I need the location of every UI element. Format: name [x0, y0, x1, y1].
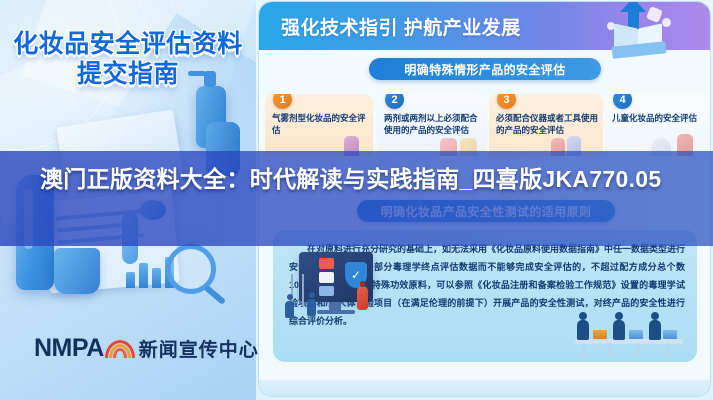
fire-extinguisher-illustration	[357, 286, 368, 310]
rainbow-arc-icon	[105, 340, 135, 358]
card-number-badge: 1	[273, 94, 292, 109]
left-poster-title: 化妆品安全评估资料 提交指南	[0, 30, 256, 89]
card-label: 必须配合仪器或者工具使用的产品的安全评估	[496, 112, 598, 136]
ladder-illustration	[291, 274, 305, 306]
page-title: 澳门正版资料大全：时代解读与实践指南_四喜版JKA770.05	[40, 163, 680, 196]
card-footer-edge	[259, 380, 710, 396]
numbered-card-list: 1 气雾剂型化妆品的安全评估 2 两剂或两剂以上必须配合使用的产品的安全评估 3…	[263, 88, 710, 156]
card-number-badge: 4	[613, 94, 632, 109]
screenshot-root: 化妆品安全评估资料 提交指南 强化技术指引 护航产业发展 明确特殊情形产品的安全…	[0, 0, 713, 400]
cosmetic-jar-illustration	[54, 248, 100, 294]
card-label: 两剂或两剂以上必须配合使用的产品的安全评估	[384, 112, 482, 136]
security-monitor-illustration: ✓	[285, 252, 377, 318]
meeting-illustration	[571, 294, 687, 356]
numbered-card: 1 气雾剂型化妆品的安全评估	[265, 94, 373, 156]
numbered-card: 4 儿童化妆品的安全评估	[605, 94, 709, 156]
left-title-line-1: 化妆品安全评估资料	[0, 30, 256, 60]
person-illustration	[285, 301, 294, 318]
nmpa-logo-chinese: 新闻宣传中心	[139, 335, 259, 362]
infographic-header-title: 强化技术指引 护航产业发展	[281, 13, 521, 40]
numbered-card: 3 必须配合仪器或者工具使用的产品的安全评估	[489, 94, 603, 156]
numbered-card: 2 两剂或两剂以上必须配合使用的产品的安全评估	[377, 94, 487, 156]
nmpa-logo: NMPA 新闻宣传中心	[34, 334, 259, 363]
card-number-badge: 3	[497, 94, 516, 109]
overlay-title-band: 澳门正版资料大全：时代解读与实践指南_四喜版JKA770.05	[0, 151, 713, 246]
monitor-base	[317, 310, 355, 314]
magnifier-icon	[166, 244, 216, 294]
nmpa-wordmark: NMPA	[34, 334, 104, 363]
person-illustration	[307, 299, 316, 316]
left-title-line-2: 提交指南	[0, 60, 256, 90]
card-number-badge: 2	[385, 94, 404, 109]
card-label: 儿童化妆品的安全评估	[612, 112, 704, 124]
card-label: 气雾剂型化妆品的安全评估	[272, 112, 368, 136]
section-badge-special-cases: 明确特殊情形产品的安全评估	[369, 58, 601, 80]
